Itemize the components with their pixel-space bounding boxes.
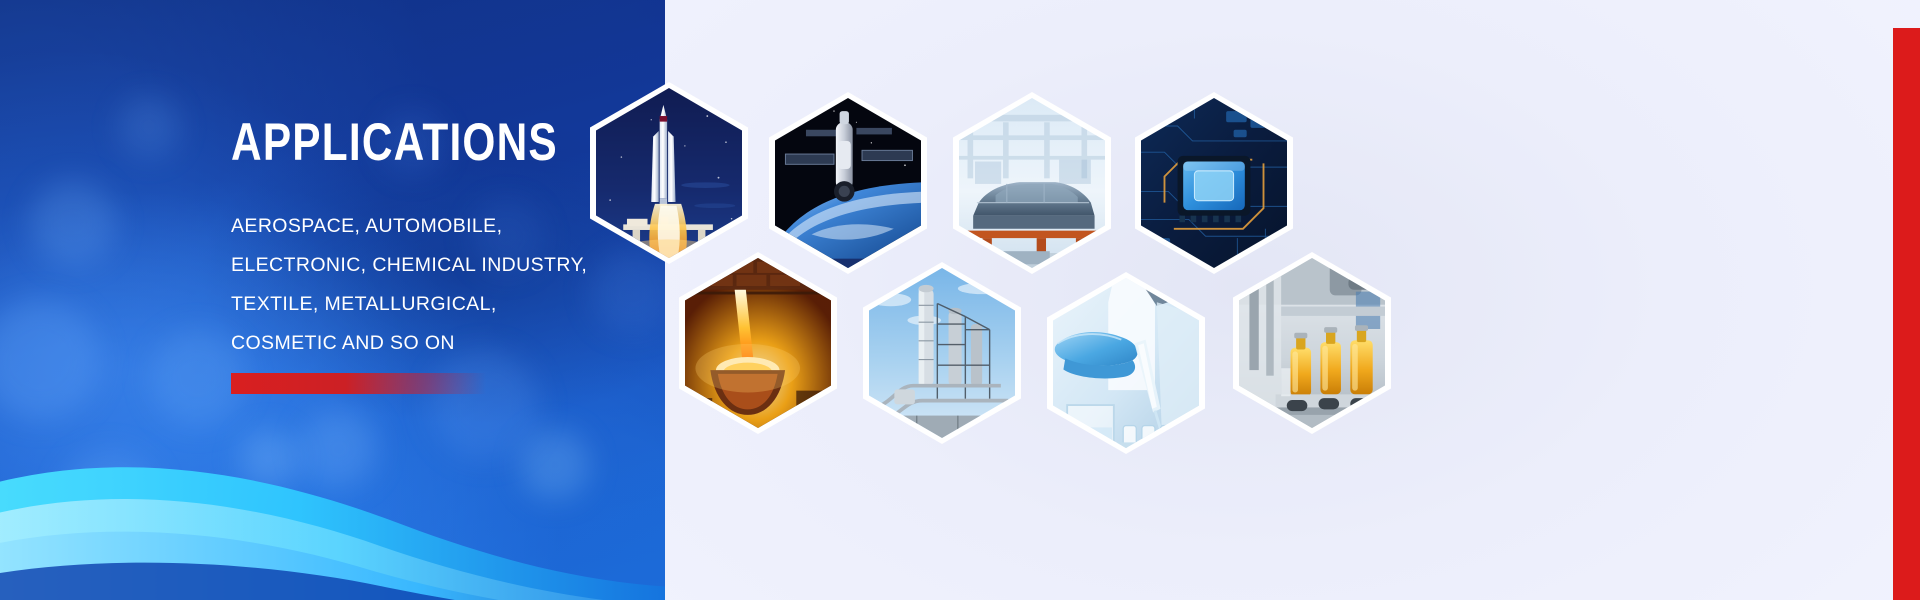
right-content-panel bbox=[665, 0, 1920, 600]
hex-tile-cosmetic-bottling[interactable] bbox=[1233, 252, 1391, 434]
hex-image-car-body-line-icon bbox=[959, 98, 1105, 268]
hex-image-microchip-icon bbox=[1141, 98, 1287, 268]
hex-tile-automobile-body[interactable] bbox=[953, 92, 1111, 274]
banner-subtitle: AEROSPACE, AUTOMOBILE, ELECTRONIC, CHEMI… bbox=[231, 207, 631, 363]
hex-tile-space-satellite[interactable] bbox=[769, 92, 927, 274]
hex-tile-laboratory-test[interactable] bbox=[1047, 272, 1205, 454]
page-title: APPLICATIONS bbox=[231, 116, 551, 169]
banner-copy: APPLICATIONS AEROSPACE, AUTOMOBILE, ELEC… bbox=[231, 116, 631, 363]
subtitle-line-2: ELECTRONIC, CHEMICAL INDUSTRY, bbox=[231, 246, 631, 285]
wave-decoration bbox=[0, 380, 665, 600]
hexagon-gallery bbox=[665, 0, 1920, 600]
left-blue-panel: APPLICATIONS AEROSPACE, AUTOMOBILE, ELEC… bbox=[0, 0, 665, 600]
right-red-stripe bbox=[1893, 28, 1920, 600]
hex-tile-chemical-plant[interactable] bbox=[863, 262, 1021, 444]
hex-tile-electronic-chip[interactable] bbox=[1135, 92, 1293, 274]
subtitle-line-1: AEROSPACE, AUTOMOBILE, bbox=[231, 207, 631, 246]
subtitle-line-4: COSMETIC AND SO ON bbox=[231, 324, 631, 363]
hex-tile-metallurgical-melt[interactable] bbox=[679, 252, 837, 434]
hex-image-molten-metal-icon bbox=[685, 258, 831, 428]
hex-image-pipette-lab-icon bbox=[1053, 278, 1199, 448]
hex-image-bottling-line-icon bbox=[1239, 258, 1385, 428]
hex-image-refinery-icon bbox=[869, 268, 1015, 438]
red-accent-bar bbox=[231, 373, 486, 394]
subtitle-line-3: TEXTILE, METALLURGICAL, bbox=[231, 285, 631, 324]
hex-image-satellite-orbit-icon bbox=[775, 98, 921, 268]
